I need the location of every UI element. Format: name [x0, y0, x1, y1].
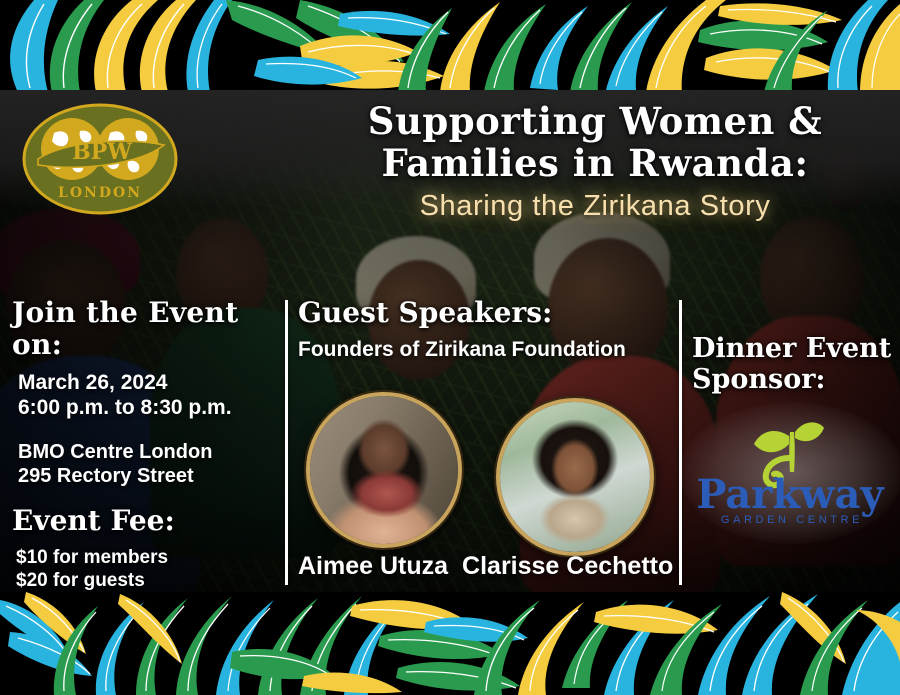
sponsor-column: Dinner Event Sponsor: [692, 333, 892, 395]
bpw-logo-svg: BPW LONDON [22, 103, 178, 215]
sponsor-heading-line-2: Sponsor: [692, 364, 892, 395]
event-time: 6:00 p.m. to 8:30 p.m. [12, 395, 280, 420]
fee-item: $20 for guests [12, 569, 280, 592]
divider-right [679, 300, 682, 585]
title-subtitle: Sharing the Zirikana Story [300, 190, 890, 223]
bpw-logo-brand-text: BPW [72, 139, 132, 165]
guest-speakers-column: Guest Speakers: Founders of Zirikana Fou… [298, 297, 670, 363]
page-title: Supporting Women & Families in Rwanda: S… [300, 100, 890, 223]
bpw-london-logo: BPW LONDON [22, 103, 178, 215]
title-line-2: Families in Rwanda: [300, 142, 890, 184]
event-date: March 26, 2024 [12, 370, 280, 395]
parkway-logo-svg: Parkway GARDEN CENTRE [694, 418, 890, 528]
bpw-logo-chapter-text: LONDON [58, 185, 142, 201]
avatar [500, 402, 650, 552]
speaker-portraits [298, 392, 670, 562]
speaker-names: Aimee UtuzaClarisse Cechetto [298, 552, 678, 581]
event-address: 295 Rectory Street [12, 464, 280, 488]
leaf-pattern-bottom-svg [0, 592, 900, 695]
join-event-heading: Join the Event on: [12, 297, 280, 361]
speaker-portrait-1 [306, 392, 462, 548]
divider-left [285, 300, 288, 585]
speaker-portrait-2 [496, 398, 654, 556]
event-poster: BPW LONDON Supporting Women & Families i… [0, 0, 900, 695]
guest-speakers-subheading: Founders of Zirikana Foundation [298, 337, 670, 363]
sponsor-tagline-text: GARDEN CENTRE [721, 514, 863, 526]
speaker-name-2: Clarisse Cechetto [462, 552, 673, 581]
event-venue: BMO Centre London [12, 440, 280, 464]
parkway-garden-centre-logo: Parkway GARDEN CENTRE [694, 418, 890, 528]
avatar [310, 396, 458, 544]
sponsor-heading-line-1: Dinner Event [692, 333, 892, 364]
fee-item: $10 for members [12, 546, 280, 569]
top-leaf-border [0, 0, 900, 92]
speaker-name-1: Aimee Utuza [298, 552, 448, 581]
leaf-pattern-top-svg [0, 0, 900, 92]
guest-speakers-heading: Guest Speakers: [298, 297, 670, 329]
event-details-column: Join the Event on: March 26, 2024 6:00 p… [12, 297, 280, 638]
bottom-leaf-border [0, 592, 900, 695]
event-fee-heading: Event Fee: [12, 505, 280, 537]
title-line-1: Supporting Women & [300, 100, 890, 142]
sponsor-name-text: Parkway [696, 471, 885, 518]
